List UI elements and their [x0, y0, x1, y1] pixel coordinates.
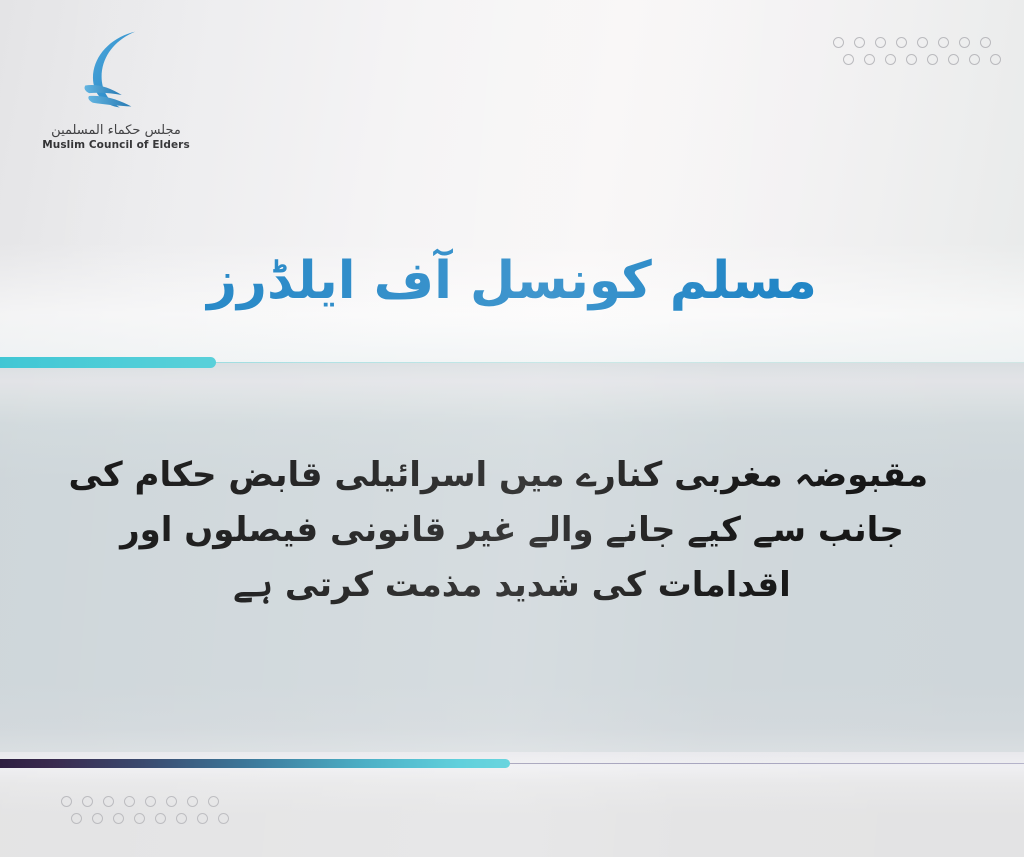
dot-ring: [82, 796, 93, 807]
dot-ring: [92, 813, 103, 824]
dot-ring: [103, 796, 114, 807]
slide-canvas: مجلس حكماء المسلمين Muslim Council of El…: [0, 0, 1024, 857]
logo-arabic-name: مجلس حكماء المسلمين: [36, 124, 196, 138]
dot-ring: [166, 796, 177, 807]
body-line: جانب سے کیے جانے والے غیر قانونی فیصلوں …: [96, 503, 928, 558]
dot-ring: [208, 796, 219, 807]
dot-ring: [917, 37, 928, 48]
dot-ring: [980, 37, 991, 48]
dot-ring: [155, 813, 166, 824]
slide-title: مسلم کونسل آف ایلڈرز: [0, 252, 1024, 312]
dot-ring: [875, 37, 886, 48]
dot-ring: [833, 37, 844, 48]
dot-ring: [843, 54, 854, 65]
dot-ring: [176, 813, 187, 824]
dot-ring: [71, 813, 82, 824]
divider-top-accent-bar: [0, 357, 216, 368]
dot-ring: [885, 54, 896, 65]
dot-ring: [61, 796, 72, 807]
dot-ring: [145, 796, 156, 807]
slide-body-text: مقبوضہ مغربی کنارے میں اسرائیلی قابض حکا…: [96, 448, 928, 613]
body-line: اقدامات کی شدید مذمت کرتی ہے: [96, 558, 928, 613]
dot-ring: [187, 796, 198, 807]
divider-bottom-accent-bar: [0, 759, 510, 768]
dot-ring: [896, 37, 907, 48]
decorative-dots-bottom-left: [56, 793, 224, 827]
dot-ring: [990, 54, 1001, 65]
crescent-moon-with-bird-icon: [68, 24, 164, 120]
dot-ring: [124, 796, 135, 807]
dot-ring: [948, 54, 959, 65]
dot-ring: [113, 813, 124, 824]
dot-ring: [927, 54, 938, 65]
divider-top: [0, 356, 1024, 370]
logo-english-name: Muslim Council of Elders: [36, 140, 196, 152]
dot-ring: [938, 37, 949, 48]
dot-ring: [218, 813, 229, 824]
dot-ring: [906, 54, 917, 65]
dot-ring: [854, 37, 865, 48]
divider-bottom: [0, 758, 1024, 770]
organization-logo: مجلس حكماء المسلمين Muslim Council of El…: [36, 24, 196, 152]
body-line: مقبوضہ مغربی کنارے میں اسرائیلی قابض حکا…: [96, 448, 928, 503]
dot-ring: [197, 813, 208, 824]
decorative-dots-top-right: [828, 34, 996, 68]
dot-ring: [959, 37, 970, 48]
dot-ring: [864, 54, 875, 65]
dot-ring: [969, 54, 980, 65]
dot-ring: [134, 813, 145, 824]
